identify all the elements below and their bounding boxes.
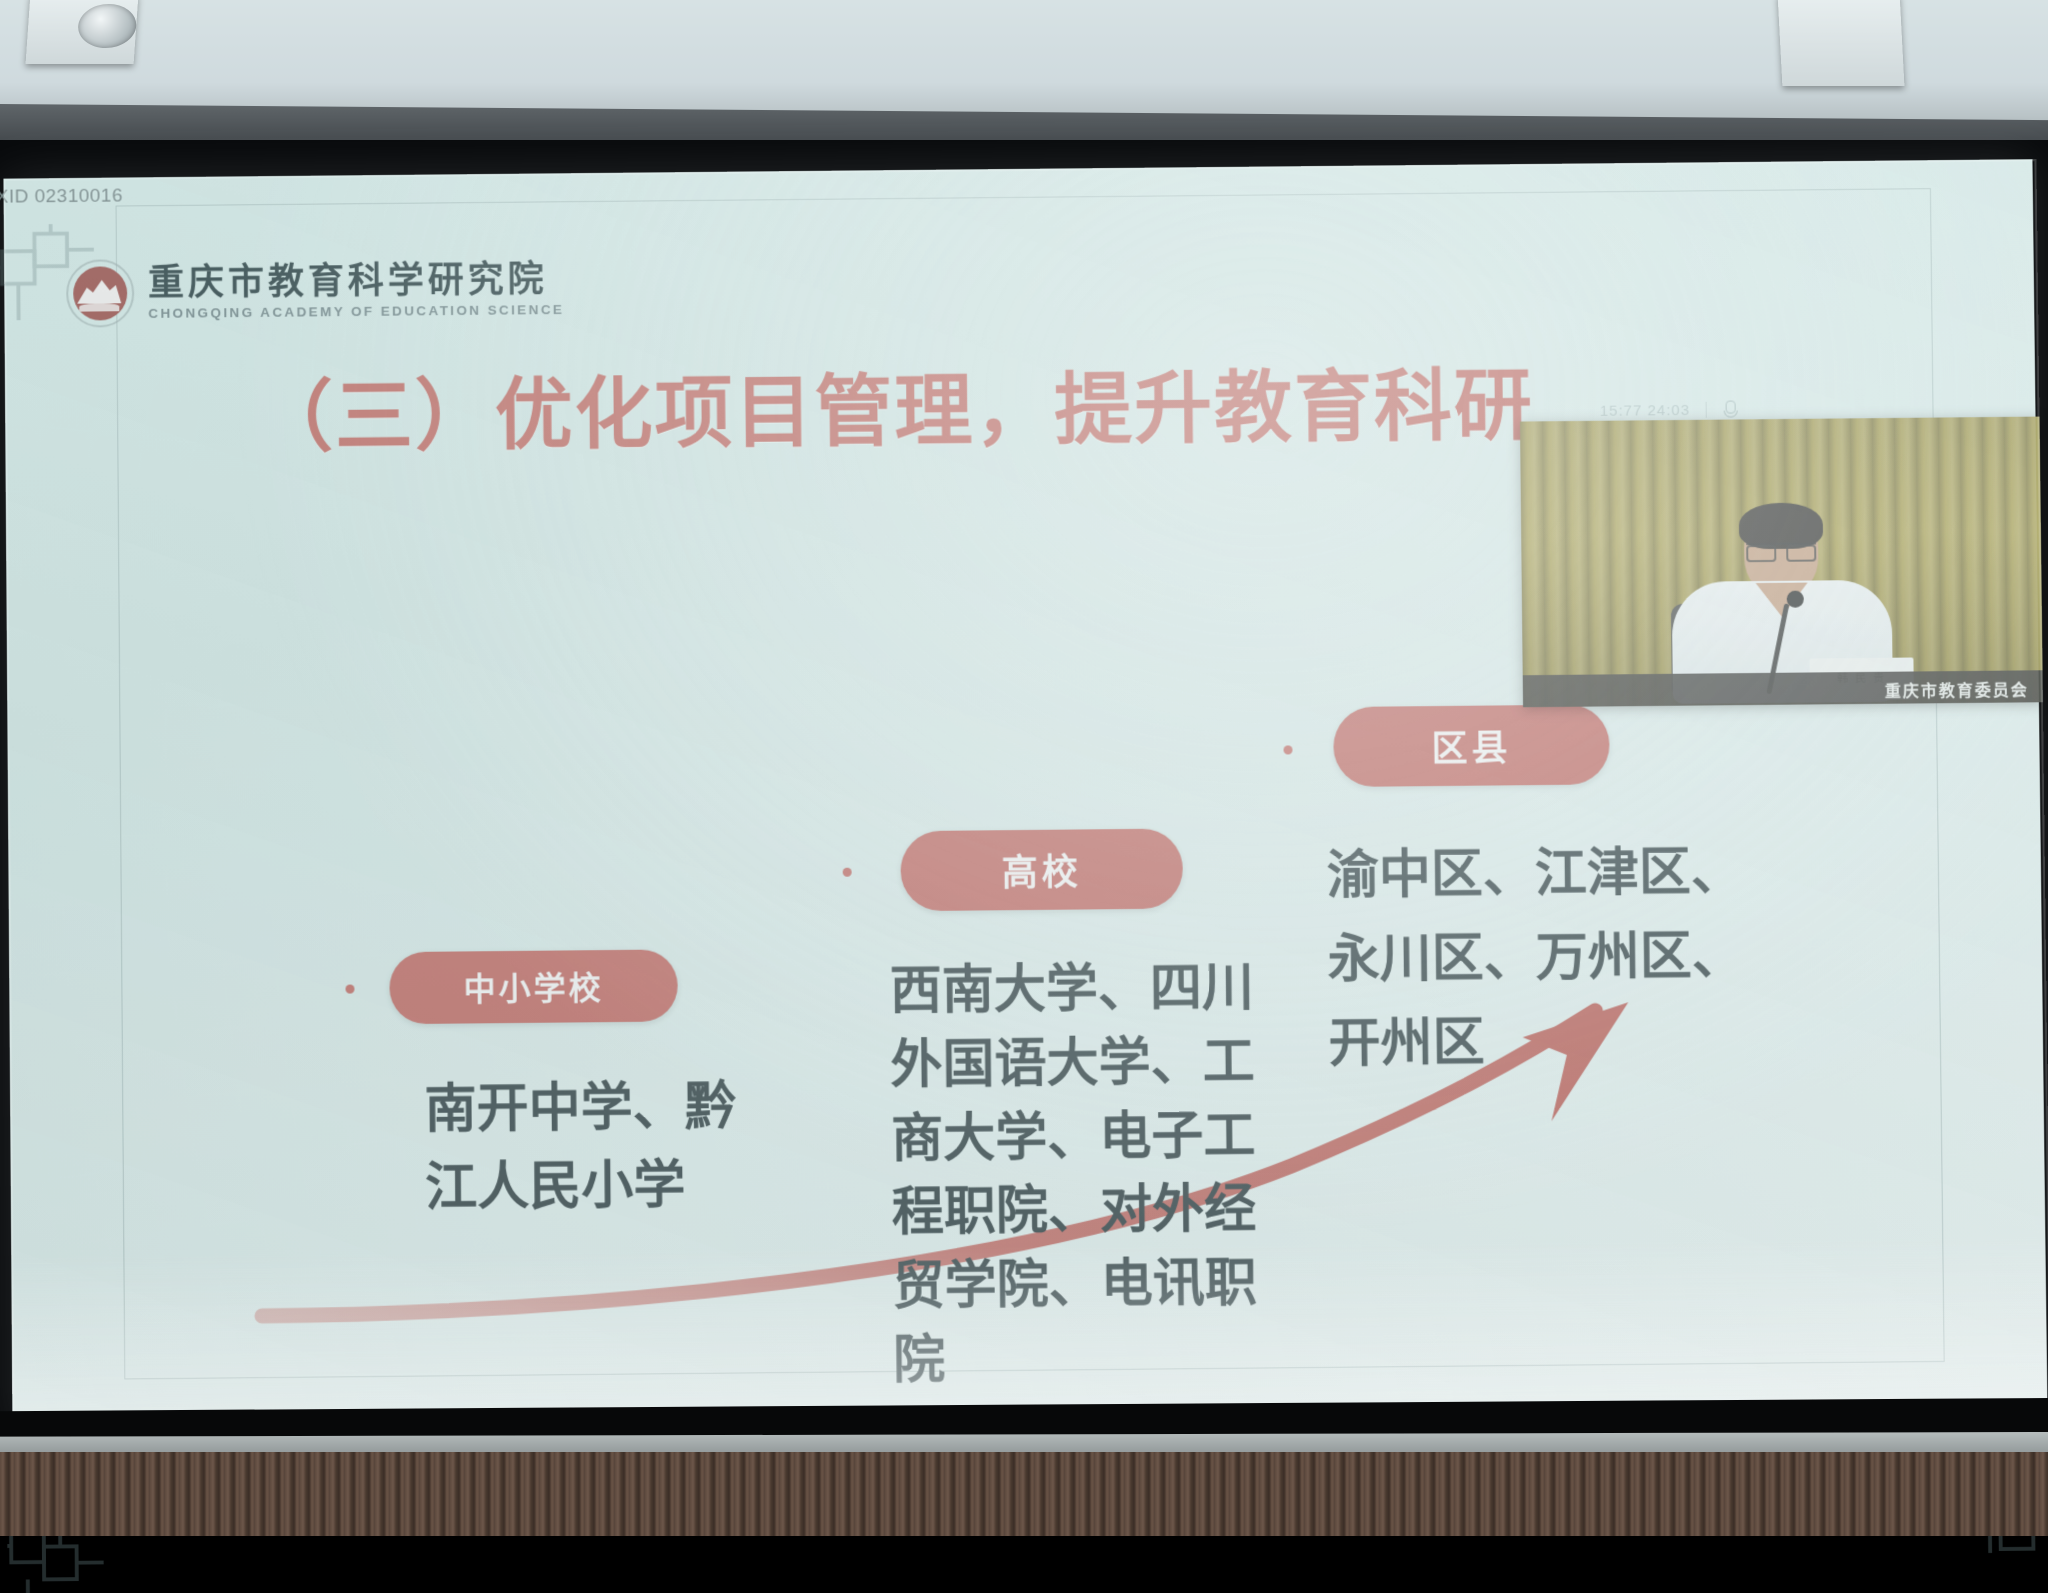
logo-name-en: CHONGQING ACADEMY OF EDUCATION SCIENCE: [148, 302, 564, 321]
toolbar-divider: [1706, 402, 1707, 418]
conference-room: XID 02310016 重庆市教育科学研究院: [0, 0, 2048, 1536]
column-primary-secondary-schools: 中小学校 南开中学、黔江人民小学: [389, 948, 786, 1228]
column-body-districts: 渝中区、江津区、永川区、万州区、开州区: [1326, 831, 1759, 1088]
microphone-head-icon: [1787, 591, 1804, 608]
ceiling-panel-left: [26, 0, 139, 64]
projection-screen: XID 02310016 重庆市教育科学研究院: [3, 159, 2047, 1436]
pill-label-districts[interactable]: 区县: [1333, 704, 1610, 787]
microphone-icon[interactable]: [1723, 401, 1737, 419]
speaker-figure: 韩 民 贵: [1656, 506, 1908, 698]
ceiling-light-icon: [77, 4, 138, 48]
document-id: XID 02310016: [0, 186, 123, 209]
column-districts: 区县 渝中区、江津区、永川区、万州区、开州区: [1325, 703, 1759, 1088]
video-caption-text: 重庆市教育委员会: [1885, 676, 2029, 701]
live-speaker-video[interactable]: 韩 民 贵 重庆市教育委员会: [1520, 417, 2043, 708]
bullet-dot-icon: [345, 985, 354, 994]
column-body-schools: 南开中学、黔江人民小学: [424, 1068, 786, 1228]
bullet-dot-icon: [1283, 745, 1292, 754]
ceiling-panel-right: [1778, 0, 1905, 86]
bullet-dot-icon: [843, 868, 852, 877]
wooden-slat-wall: [0, 1452, 2048, 1536]
institute-logo: 重庆市教育科学研究院 CHONGQING ACADEMY OF EDUCATIO…: [66, 255, 564, 328]
slide-title: （三）优化项目管理，提升教育科研: [255, 344, 1535, 468]
pill-label-universities[interactable]: 高校: [900, 828, 1183, 911]
meeting-timer: 15:77 24:03: [1600, 401, 1690, 419]
video-caption-bar: 重庆市教育委员会: [1523, 670, 2043, 707]
glasses-icon: [1746, 543, 1816, 559]
mountain-emblem-icon: [66, 259, 134, 327]
pill-label-schools[interactable]: 中小学校: [389, 949, 678, 1024]
logo-name-cn: 重庆市教育科学研究院: [148, 261, 564, 303]
